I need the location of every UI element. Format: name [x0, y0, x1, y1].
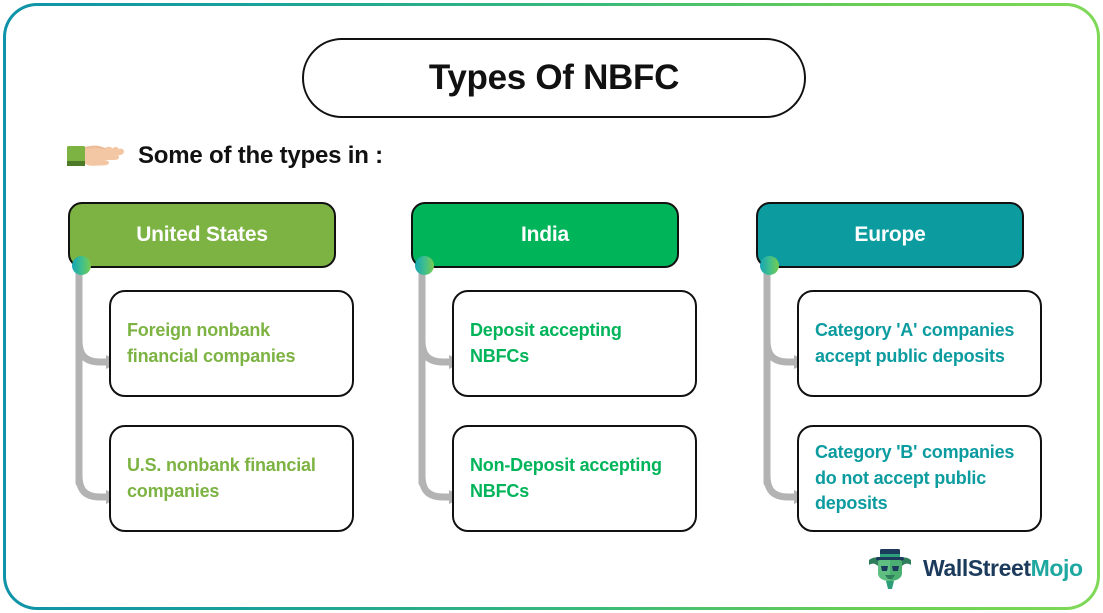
card-item[interactable]: Category 'A' companies accept public dep…	[797, 290, 1042, 397]
column-header-label: India	[521, 223, 569, 247]
column-united-states: United States Foreign nonbank financial …	[68, 202, 336, 268]
cards-india: Deposit accepting NBFCs Non-Deposit acce…	[452, 290, 697, 532]
card-text: Non-Deposit accepting NBFCs	[470, 453, 681, 504]
connector-anchor-dot	[72, 256, 91, 275]
page-canvas: Types Of NBFC Some of the types in : Uni…	[6, 6, 1097, 607]
column-header-europe[interactable]: Europe	[756, 202, 1024, 268]
wallstreetmojo-mascot-icon	[866, 546, 914, 590]
logo-text-secondary: Mojo	[1031, 555, 1083, 581]
card-item[interactable]: Non-Deposit accepting NBFCs	[452, 425, 697, 532]
card-item[interactable]: Category 'B' companies do not accept pub…	[797, 425, 1042, 532]
card-text: Foreign nonbank financial companies	[127, 318, 338, 369]
page-title: Types Of NBFC	[429, 58, 679, 98]
subtitle-row: Some of the types in :	[66, 136, 383, 176]
page-border-frame: Types Of NBFC Some of the types in : Uni…	[3, 3, 1100, 610]
pointing-right-hand-icon	[66, 136, 128, 176]
column-header-label: Europe	[854, 223, 925, 247]
cards-united-states: Foreign nonbank financial companies U.S.…	[109, 290, 354, 532]
connector-anchor-dot	[760, 256, 779, 275]
cards-europe: Category 'A' companies accept public dep…	[797, 290, 1042, 532]
column-header-united-states[interactable]: United States	[68, 202, 336, 268]
connector-anchor-dot	[415, 256, 434, 275]
wallstreetmojo-logo[interactable]: WallStreetMojo	[866, 546, 1083, 590]
column-header-label: United States	[136, 223, 268, 247]
card-text: U.S. nonbank financial companies	[127, 453, 338, 504]
card-item[interactable]: Deposit accepting NBFCs	[452, 290, 697, 397]
subtitle-text: Some of the types in :	[138, 142, 383, 170]
card-text: Category 'A' companies accept public dep…	[815, 318, 1026, 369]
logo-text-primary: WallStreet	[923, 555, 1031, 581]
logo-wordmark: WallStreetMojo	[923, 555, 1083, 582]
card-item[interactable]: Foreign nonbank financial companies	[109, 290, 354, 397]
column-header-india[interactable]: India	[411, 202, 679, 268]
infographic-page: Types Of NBFC Some of the types in : Uni…	[0, 0, 1103, 613]
page-title-pill: Types Of NBFC	[302, 38, 806, 118]
card-item[interactable]: U.S. nonbank financial companies	[109, 425, 354, 532]
column-europe: Europe Category 'A' companies accept pub…	[756, 202, 1024, 268]
card-text: Category 'B' companies do not accept pub…	[815, 440, 1026, 517]
column-india: India Deposit accepting NBFCs Non-Deposi…	[411, 202, 679, 268]
card-text: Deposit accepting NBFCs	[470, 318, 681, 369]
